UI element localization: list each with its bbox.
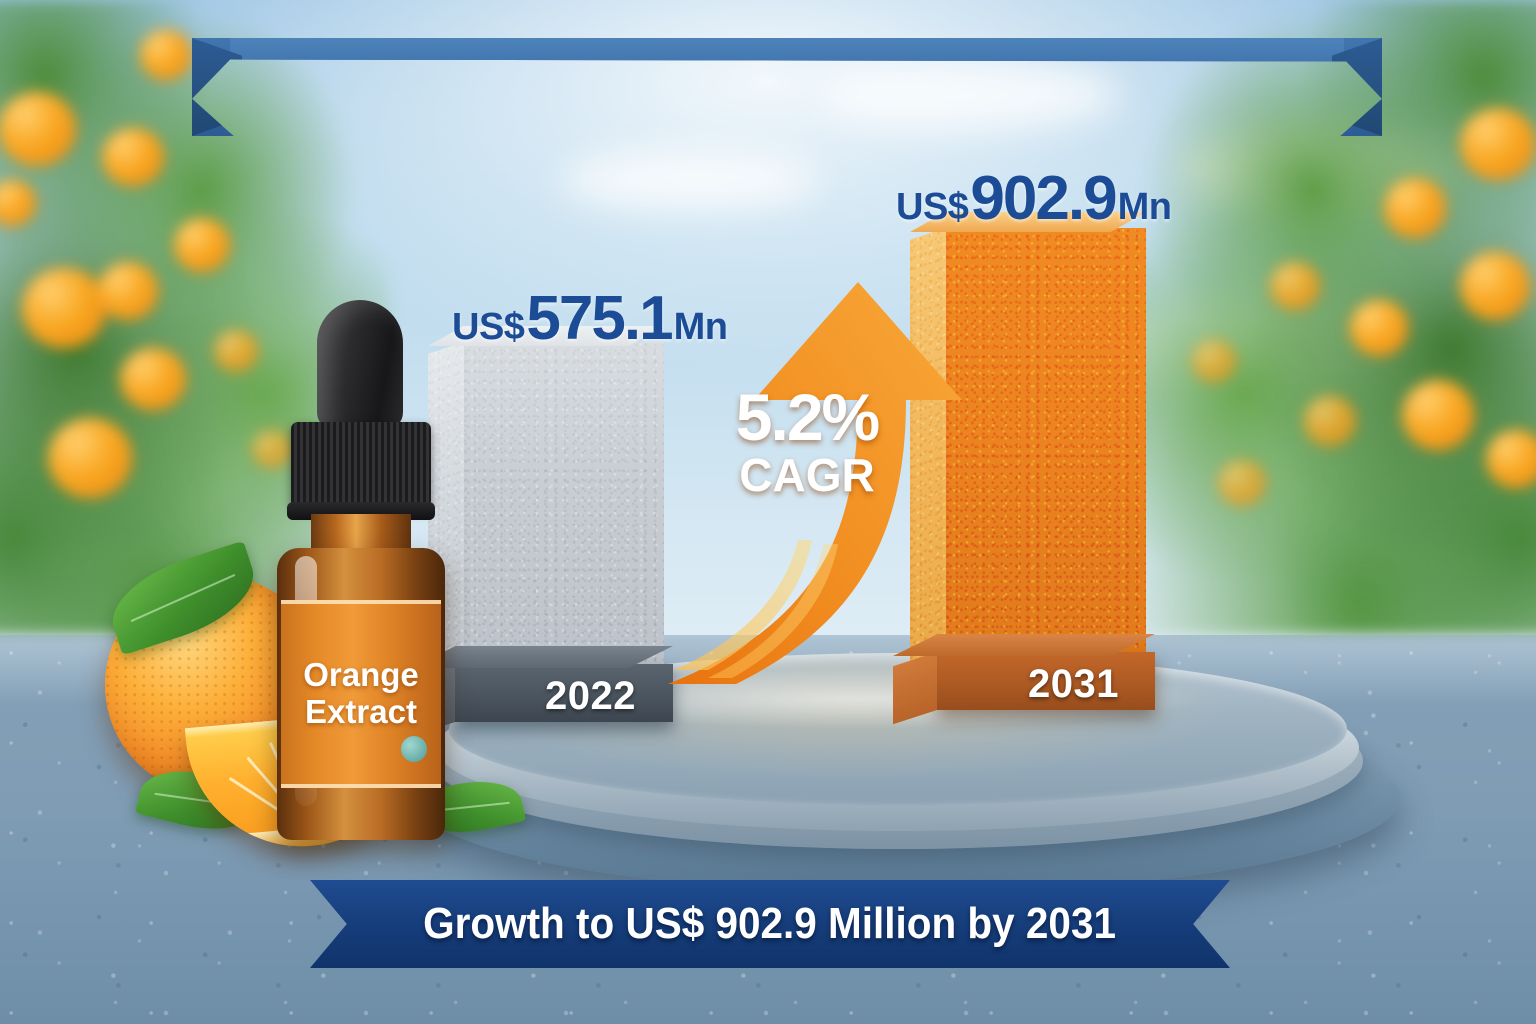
- cloud: [820, 60, 1120, 130]
- leaf-vein: [130, 573, 235, 621]
- cagr-callout: 5.2% CAGR: [662, 384, 952, 501]
- orange-fruit: [1192, 340, 1236, 382]
- orchard-right: [1106, 0, 1536, 635]
- orange-fruit: [1270, 262, 1320, 310]
- label-seal-icon: [401, 736, 427, 762]
- orange-fruit: [1460, 252, 1530, 320]
- orange-fruit: [140, 30, 192, 80]
- summary-caption: Growth to US$ 902.9 Million by 2031: [424, 899, 1117, 949]
- bar-2022-front-face: [464, 342, 664, 672]
- orange-fruit: [1304, 396, 1356, 446]
- bottle-label-line2: Extract: [305, 694, 417, 731]
- orange-fruit: [1384, 178, 1446, 238]
- value-2031-scale: Mn: [1118, 186, 1172, 228]
- cagr-label: CAGR: [662, 450, 952, 501]
- orange-fruit: [1218, 460, 1266, 506]
- bar-2022: [464, 342, 664, 672]
- bottle-cap: [291, 422, 431, 508]
- orange-fruit: [174, 218, 230, 272]
- bottle-label: Orange Extract: [281, 600, 441, 788]
- cagr-value: 5.2%: [662, 384, 952, 450]
- bar-texture: [464, 342, 664, 672]
- bar-label-2022: 2022: [545, 674, 636, 719]
- orange-fruit: [22, 268, 106, 348]
- orange-fruit: [1460, 108, 1536, 180]
- value-2031-currency: US$: [896, 186, 968, 228]
- summary-banner: Growth to US$ 902.9 Million by 2031: [310, 880, 1230, 968]
- value-2022-scale: Mn: [674, 306, 728, 348]
- value-2022-number: 575.1: [526, 284, 671, 353]
- bottle-label-line1: Orange: [303, 657, 419, 694]
- orange-fruit: [98, 262, 158, 320]
- value-2022-currency: US$: [452, 306, 524, 348]
- infographic-canvas: 2022 2031: [0, 0, 1536, 1024]
- orange-fruit: [1402, 380, 1474, 450]
- orange-fruit: [102, 128, 164, 186]
- orange-fruit: [120, 348, 186, 410]
- orange-fruit: [48, 418, 132, 498]
- foliage: [1106, 0, 1536, 635]
- orange-fruit: [1350, 300, 1408, 356]
- cloud: [560, 150, 820, 210]
- dropper-bulb: [317, 300, 403, 430]
- orange-fruit: [0, 92, 76, 166]
- bar-label-2031: 2031: [1028, 662, 1119, 707]
- value-label-2031: US$902.9Mn: [896, 163, 1171, 234]
- value-label-2022: US$575.1Mn: [452, 283, 727, 354]
- value-2031-number: 902.9: [970, 164, 1115, 233]
- dropper-bottle: Orange Extract: [265, 300, 455, 840]
- orange-fruit: [214, 330, 258, 372]
